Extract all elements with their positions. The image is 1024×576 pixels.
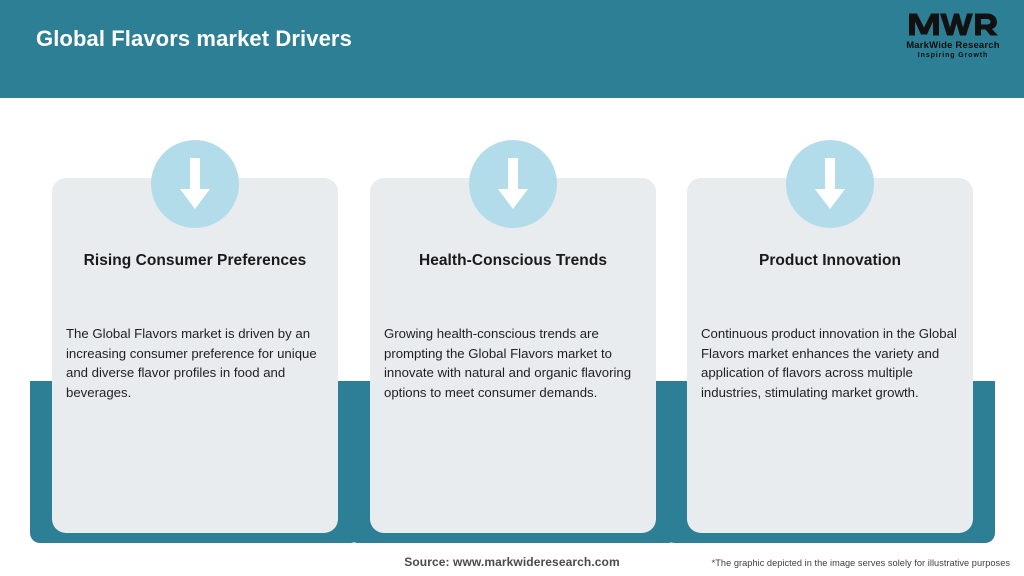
footer-disclaimer: *The graphic depicted in the image serve…	[712, 558, 1010, 568]
down-arrow-badge-2	[469, 140, 557, 228]
down-arrow-icon	[813, 156, 847, 212]
driver-card-title-3: Product Innovation	[687, 252, 973, 270]
down-arrow-badge-3	[786, 140, 874, 228]
driver-card-body-3: Continuous product innovation in the Glo…	[701, 324, 961, 402]
driver-card-1[interactable]: Rising Consumer Preferences The Global F…	[52, 178, 338, 533]
drivers-card-group: Rising Consumer Preferences The Global F…	[0, 0, 1024, 576]
driver-card-title-1: Rising Consumer Preferences	[52, 252, 338, 270]
driver-card-2[interactable]: Health-Conscious Trends Growing health-c…	[370, 178, 656, 533]
driver-card-title-2: Health-Conscious Trends	[370, 252, 656, 270]
slide-canvas: Global Flavors market Drivers MarkWide R…	[0, 0, 1024, 576]
down-arrow-icon	[178, 156, 212, 212]
down-arrow-badge-1	[151, 140, 239, 228]
down-arrow-icon	[496, 156, 530, 212]
driver-card-body-1: The Global Flavors market is driven by a…	[66, 324, 326, 402]
driver-card-body-2: Growing health-conscious trends are prom…	[384, 324, 644, 402]
driver-card-3[interactable]: Product Innovation Continuous product in…	[687, 178, 973, 533]
